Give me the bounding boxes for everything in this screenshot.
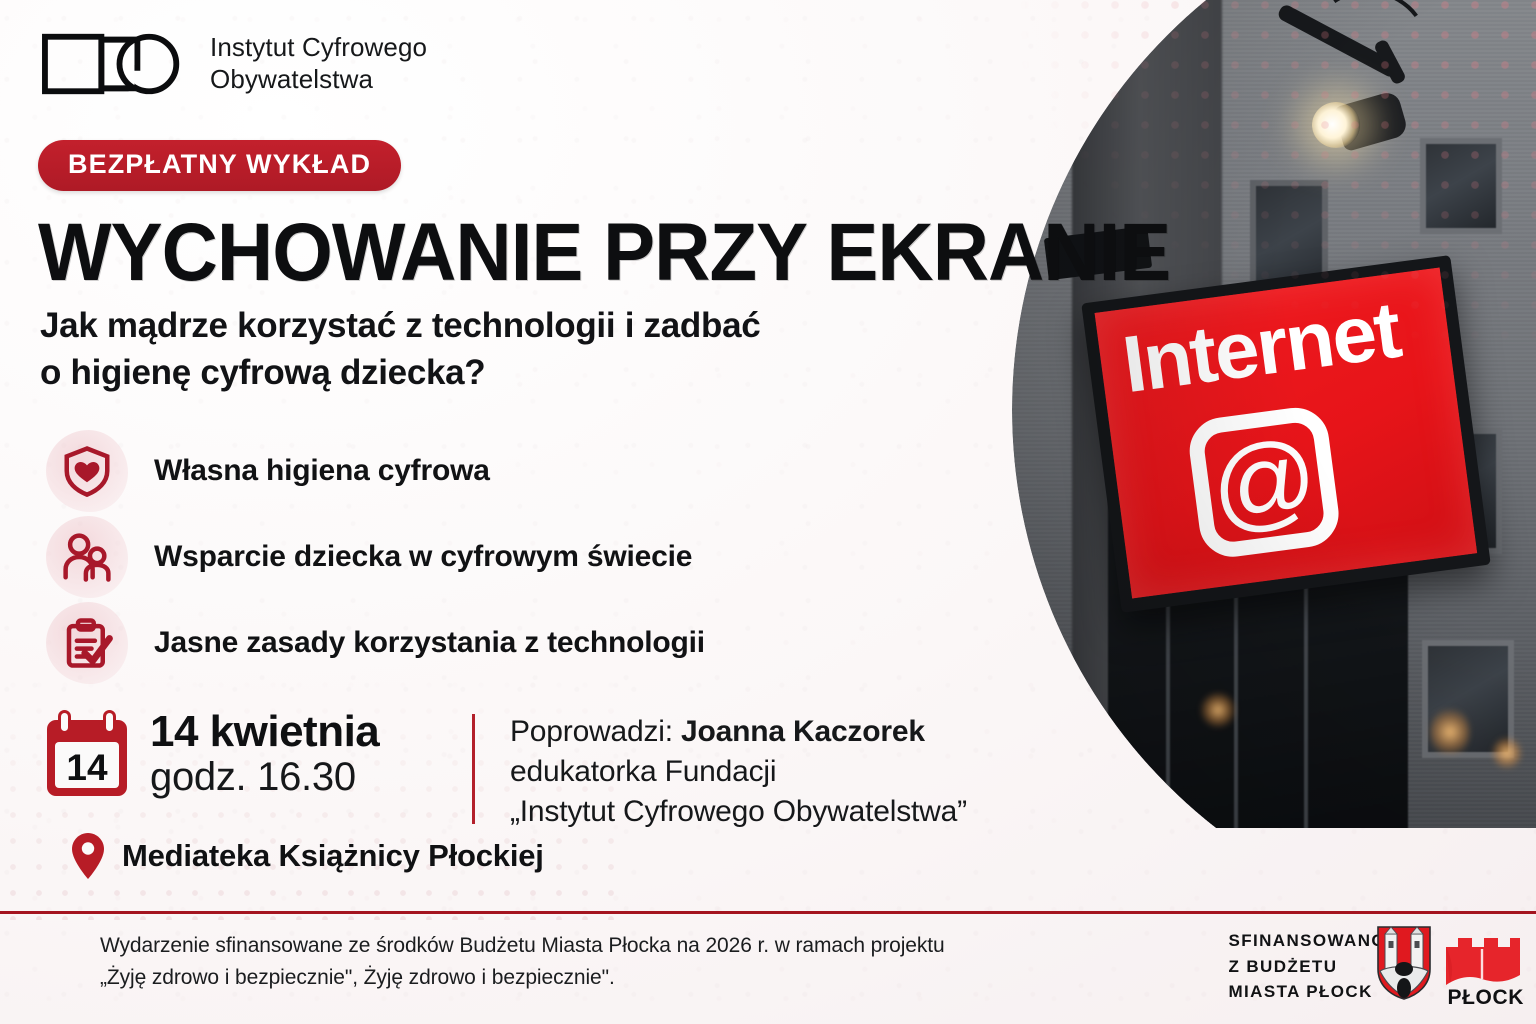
free-lecture-badge: BEZPŁATNY WYKŁAD: [38, 140, 401, 191]
speaker-affiliation: „Instytut Cyfrowego Obywatelstwa”: [510, 795, 967, 828]
shield-heart-icon: [44, 428, 130, 514]
poster-canvas: Internet @ Instytut Cyfrowego Obywatelst…: [0, 0, 1536, 1024]
list-item: Jasne zasady korzystania z technologii: [44, 600, 705, 686]
topic-list: Własna higiena cyfrowa Wsparcie dziecka …: [44, 428, 705, 686]
organization-logo-block: Instytut Cyfrowego Obywatelstwa: [42, 28, 427, 100]
list-item-label: Wsparcie dziecka w cyfrowym świecie: [154, 540, 692, 574]
plock-coat-of-arms: [1376, 925, 1432, 1001]
funding-label: SFINANSOWANO Z BUDŻETU MIASTA PŁOCK: [1228, 928, 1386, 1005]
event-venue: Mediateka Książnicy Płockiej: [122, 838, 544, 874]
speaker-lead-label: Poprowadzi:: [510, 715, 673, 748]
speaker-block: Poprowadzi: Joanna Kaczorek edukatorka F…: [510, 712, 967, 832]
parent-child-icon: [44, 514, 130, 600]
list-item: Własna higiena cyfrowa: [44, 428, 705, 514]
page-title: WYCHOWANIE PRZY EKRANIE: [38, 206, 1170, 300]
location-pin-icon: [70, 832, 106, 880]
event-date-block: 14 14 kwietnia godz. 16.30: [44, 708, 379, 800]
footer-divider: [0, 911, 1536, 914]
calendar-icon: 14: [44, 708, 130, 800]
internet-sign-photo: Internet @: [1012, 0, 1536, 940]
organization-name: Instytut Cyfrowego Obywatelstwa: [210, 32, 427, 95]
event-time: godz. 16.30: [150, 756, 379, 798]
page-subtitle: Jak mądrze korzystać z technologii i zad…: [40, 303, 760, 397]
list-item-label: Własna higiena cyfrowa: [154, 454, 490, 488]
event-venue-block: Mediateka Książnicy Płockiej: [70, 832, 544, 880]
vertical-divider: [472, 714, 475, 824]
speaker-role: edukatorka Fundacji: [510, 755, 776, 788]
list-item: Wsparcie dziecka w cyfrowym świecie: [44, 514, 705, 600]
funding-disclaimer: Wydarzenie sfinansowane ze środków Budże…: [100, 930, 945, 993]
calendar-day-number: 14: [66, 747, 108, 788]
ico-monogram-logo: [42, 28, 188, 100]
photo-vignette: [1012, 0, 1536, 940]
event-date: 14 kwietnia: [150, 709, 379, 756]
city-name: PŁOCK: [1448, 986, 1525, 1010]
list-item-label: Jasne zasady korzystania z technologii: [154, 626, 705, 660]
speaker-name: Joanna Kaczorek: [681, 715, 925, 748]
clipboard-check-icon: [44, 600, 130, 686]
